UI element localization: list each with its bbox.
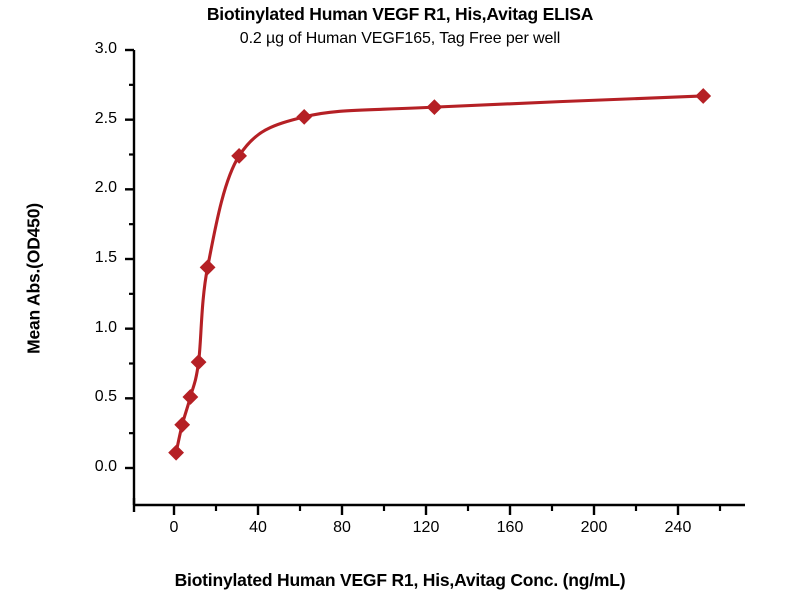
y-tick-label: 2.5 (57, 110, 117, 128)
data-point-marker (696, 89, 710, 103)
data-series (169, 89, 711, 460)
x-tick-label: 0 (144, 519, 204, 537)
x-tick-label: 200 (564, 519, 624, 537)
data-point-marker (175, 418, 189, 432)
x-tick-label: 80 (312, 519, 372, 537)
y-tick-label: 1.5 (57, 249, 117, 267)
y-tick-label: 0.0 (57, 458, 117, 476)
data-point-marker (169, 445, 183, 459)
x-tick-label: 120 (396, 519, 456, 537)
data-point-marker (297, 110, 311, 124)
y-tick-label: 1.0 (57, 319, 117, 337)
x-tick-label: 40 (228, 519, 288, 537)
data-point-marker (183, 390, 197, 404)
data-point-marker (191, 355, 205, 369)
x-tick-label: 160 (480, 519, 540, 537)
y-tick-label: 2.0 (57, 179, 117, 197)
x-tick-label: 240 (648, 519, 708, 537)
axes (125, 50, 745, 515)
plot-area (0, 0, 800, 600)
data-point-marker (200, 260, 214, 274)
y-tick-label: 3.0 (57, 40, 117, 58)
data-point-marker (427, 100, 441, 114)
y-tick-label: 0.5 (57, 388, 117, 406)
chart-figure: Biotinylated Human VEGF R1, His,Avitag E… (0, 0, 800, 600)
